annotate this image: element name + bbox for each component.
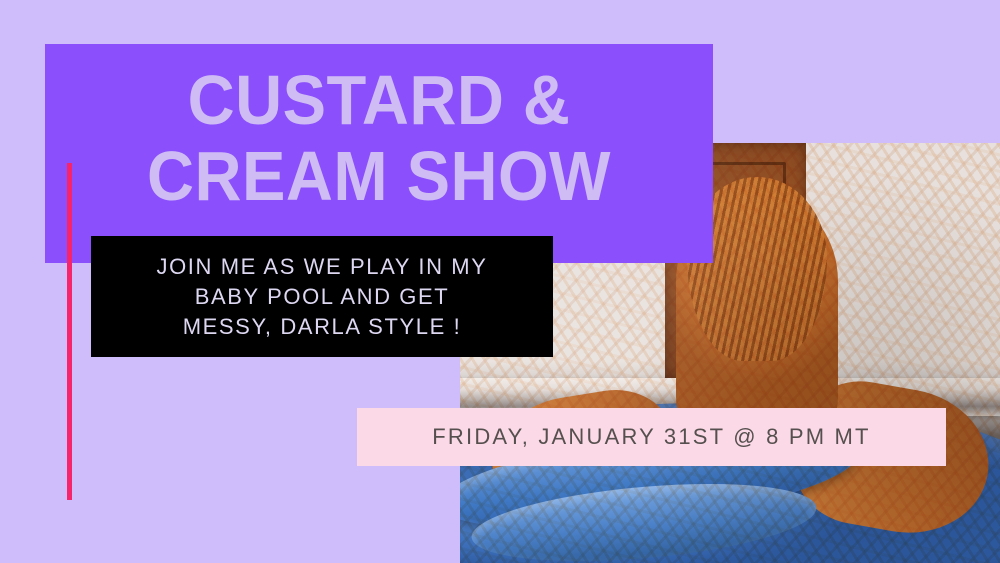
date-banner-text: FRIDAY, JANUARY 31ST @ 8 PM MT: [432, 424, 870, 450]
description-text: JOIN ME AS WE PLAY IN MY BABY POOL AND G…: [157, 252, 488, 342]
description-box: JOIN ME AS WE PLAY IN MY BABY POOL AND G…: [91, 236, 553, 357]
event-flyer: CUSTARD & CREAM SHOW JOIN ME AS WE PLAY …: [0, 0, 1000, 563]
page-title: CUSTARD & CREAM SHOW: [68, 62, 689, 214]
date-banner: FRIDAY, JANUARY 31ST @ 8 PM MT: [357, 408, 946, 466]
accent-rule: [67, 163, 72, 500]
